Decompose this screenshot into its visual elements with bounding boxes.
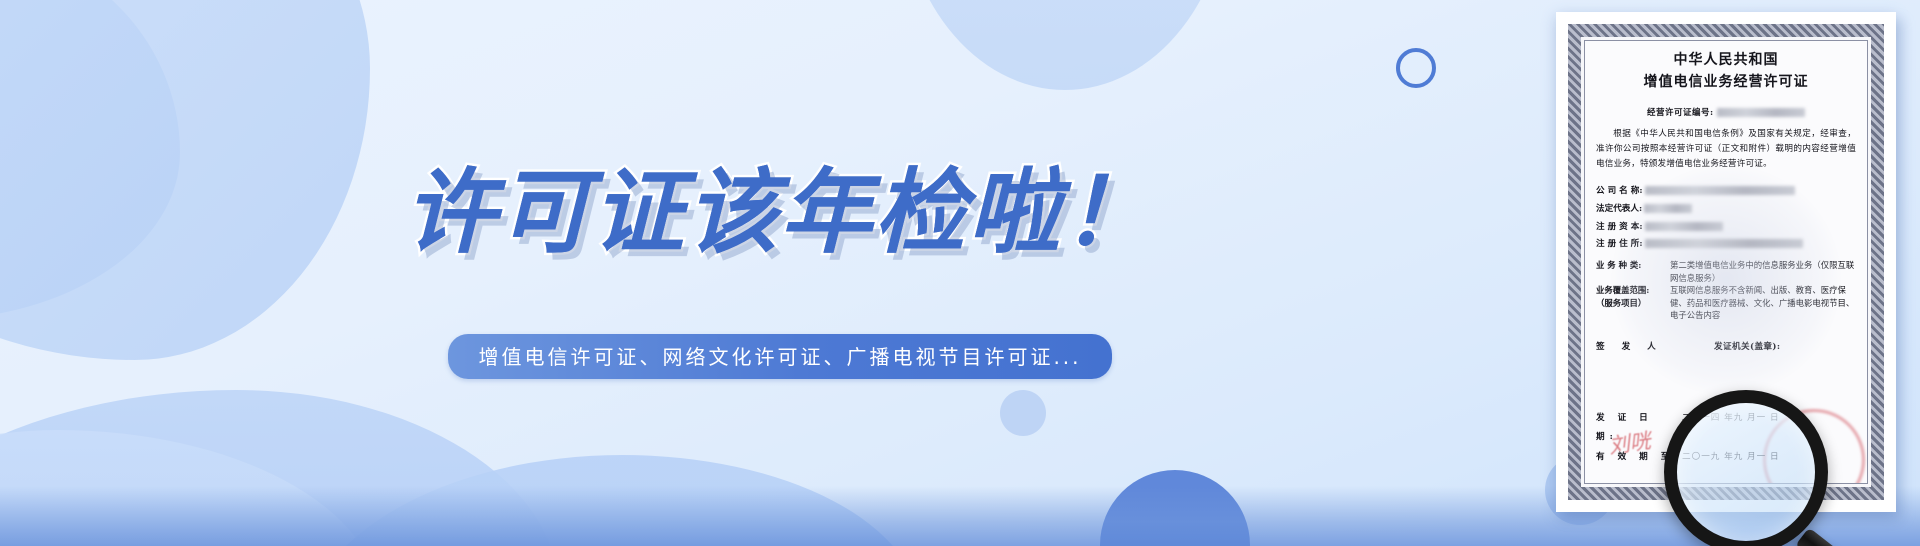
page-title: 许可证该年检啦！ [0,138,1560,271]
decorative-circle-large [1100,470,1250,546]
field-label-registered-address: 注 册 住 所: [1596,236,1643,254]
field-label-business-type: 业 务 种 类: [1596,259,1670,272]
subtitle-pill: 增值电信许可证、网络文化许可证、广播电视节目许可证... [0,334,1560,379]
circle-outline-icon [1396,48,1436,88]
field-value-redacted [1645,186,1795,195]
field-value-redacted [1644,204,1692,213]
decorative-blob-bottom-middle [300,455,920,546]
business-coverage-label-sub: （服务项目） [1596,298,1646,308]
certificate-scope-list: 业 务 种 类: 第二类增值电信业务中的信息服务业务（仅限互联网信息服务） 业务… [1596,259,1856,322]
certificate-body-text: 根据《中华人民共和国电信条例》及国家有关规定，经审查，准许你公司按照本经营许可证… [1596,127,1856,172]
field-label-legal-representative: 法定代表人: [1596,201,1642,219]
certificate-field-row: 注 册 资 本: [1596,219,1856,237]
field-label-registered-capital: 注 册 资 本: [1596,219,1643,237]
certificate-field-row: 公 司 名 称: [1596,183,1856,201]
certificate-signature-row: 签 发 人 发证机关(盖章): [1596,340,1856,352]
promo-banner: 许可证该年检啦！ 许可证该年检啦！ 增值电信许可证、网络文化许可证、广播电视节目… [0,0,1920,546]
certificate-number-row: 经营许可证编号: [1596,106,1856,118]
certificate-number-value-redacted [1717,108,1805,117]
field-value-redacted [1645,239,1803,248]
magnifier-lens [1664,390,1828,546]
field-value-business-type: 第二类增值电信业务中的信息服务业务（仅限互联网信息服务） [1670,259,1856,284]
certificate-scope-row: 业务覆盖范围: （服务项目） 互联网信息服务不含新闻、出版、教育、医疗保健、药品… [1596,284,1856,322]
magnifier-icon [1664,390,1864,546]
signer-label: 签 发 人 [1596,340,1714,352]
authority-label: 发证机关(盖章): [1714,340,1780,352]
decorative-blob-bottom-left-2 [0,430,380,546]
field-label-company-name: 公 司 名 称: [1596,183,1643,201]
certificate-field-row: 注 册 住 所: [1596,236,1856,254]
field-label-business-coverage: 业务覆盖范围: （服务项目） [1596,284,1670,309]
subtitle-text: 增值电信许可证、网络文化许可证、广播电视节目许可证... [448,334,1111,379]
field-value-redacted [1645,222,1723,231]
certificate-title-line-2: 增值电信业务经营许可证 [1596,72,1856,94]
certificate-title-line-1: 中华人民共和国 [1596,50,1856,72]
decorative-blob-bottom-left [0,390,560,546]
certificate-field-row: 法定代表人: [1596,201,1856,219]
certificate-number-label: 经营许可证编号: [1647,108,1714,118]
certificate-scope-row: 业 务 种 类: 第二类增值电信业务中的信息服务业务（仅限互联网信息服务） [1596,259,1856,284]
field-value-business-coverage: 互联网信息服务不含新闻、出版、教育、医疗保健、药品和医疗器械、文化、广播电影电视… [1670,284,1856,322]
magnifier-handle [1795,527,1902,546]
decorative-blob-top-middle [900,0,1230,90]
business-coverage-label-main: 业务覆盖范围: [1596,285,1649,295]
decorative-circle-small [1000,390,1046,436]
certificate-field-list: 公 司 名 称: 法定代表人: 注 册 资 本: 注 册 住 所: [1596,183,1856,253]
